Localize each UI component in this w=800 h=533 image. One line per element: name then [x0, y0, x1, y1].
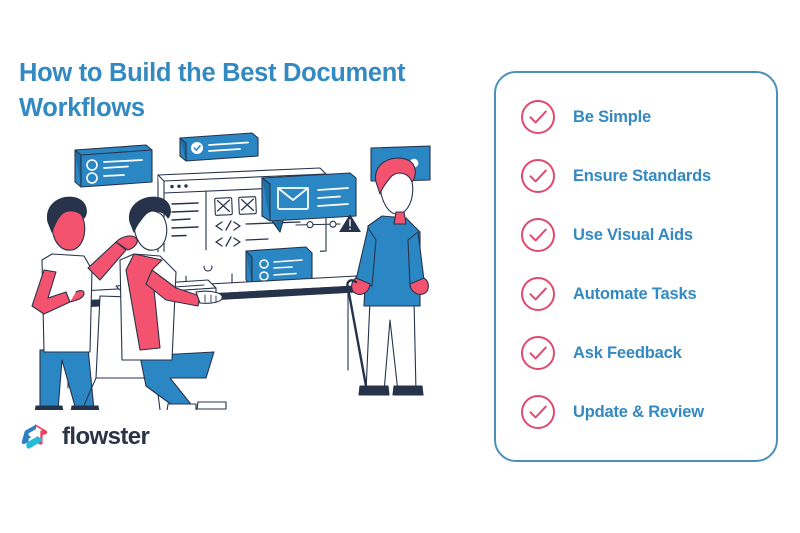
- check-circle-icon: [520, 335, 556, 371]
- floating-card-approved: [180, 133, 258, 161]
- check-circle-icon: [520, 276, 556, 312]
- checklist-item-label: Update & Review: [573, 403, 704, 422]
- floating-card-checklist: [75, 145, 152, 187]
- check-circle-icon: [520, 99, 556, 135]
- checklist-item-1[interactable]: Ensure Standards: [520, 158, 711, 194]
- page-title: How to Build the Best Document Workflows: [19, 56, 439, 126]
- check-circle-icon: [520, 217, 556, 253]
- checklist-item-5[interactable]: Update & Review: [520, 394, 704, 430]
- check-circle-icon: [520, 394, 556, 430]
- elderly-person-with-cane: [347, 158, 428, 395]
- check-circle-icon: [520, 158, 556, 194]
- flowster-logo[interactable]: flowster: [20, 421, 149, 452]
- checklist-item-label: Use Visual Aids: [573, 226, 693, 245]
- checklist-item-label: Automate Tasks: [573, 285, 696, 304]
- checklist-item-0[interactable]: Be Simple: [520, 99, 651, 135]
- flowster-logo-icon: [20, 421, 51, 452]
- checklist-item-label: Be Simple: [573, 108, 651, 127]
- checklist-item-3[interactable]: Automate Tasks: [520, 276, 696, 312]
- infographic-page: How to Build the Best Document Workflows: [0, 0, 800, 533]
- checklist-item-label: Ask Feedback: [573, 344, 682, 363]
- checklist-item-4[interactable]: Ask Feedback: [520, 335, 682, 371]
- checklist-item-2[interactable]: Use Visual Aids: [520, 217, 693, 253]
- checklist-panel: Be Simple Ensure Standards Use Visual Ai…: [494, 71, 778, 462]
- flowster-logo-text: flowster: [62, 423, 149, 451]
- team-document-workflow-illustration: [0, 120, 470, 410]
- checklist-item-label: Ensure Standards: [573, 167, 711, 186]
